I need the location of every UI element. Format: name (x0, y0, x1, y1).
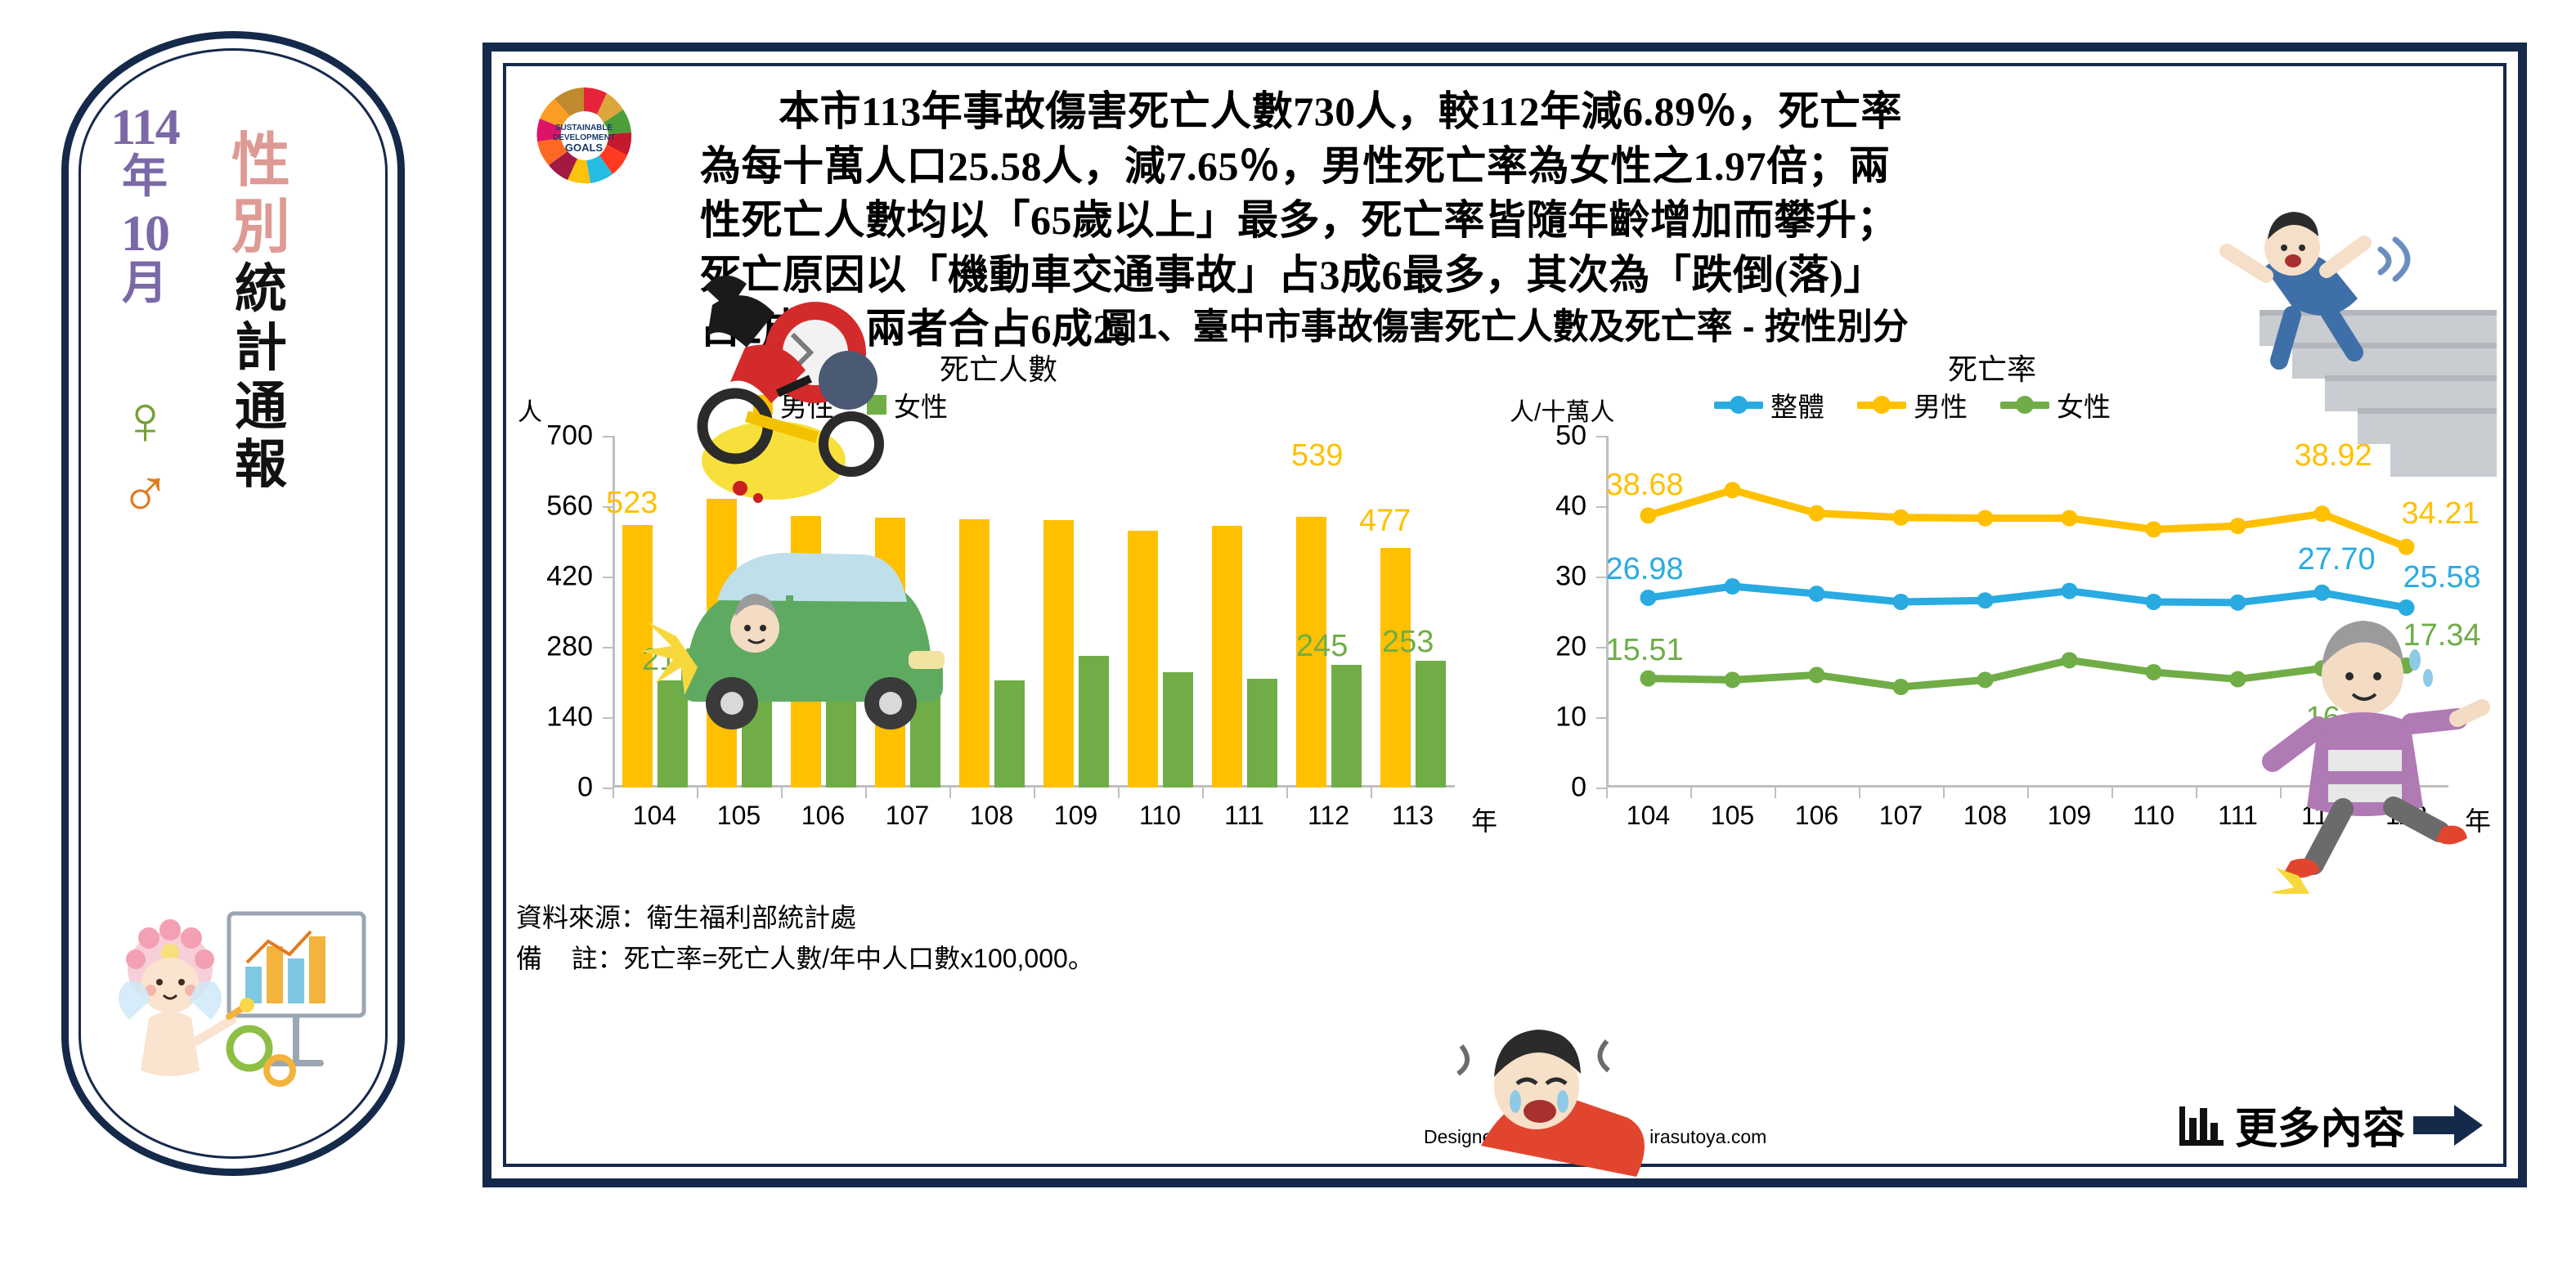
y-tick-mark (603, 788, 613, 789)
line-data-point (2230, 518, 2246, 534)
line-data-point (2314, 585, 2331, 601)
x-tick-label: 108 (970, 801, 1013, 831)
x-tick-mark (2027, 788, 2029, 798)
y-tick-label: 700 (546, 420, 593, 452)
x-axis-unit-label: 年 (1471, 801, 1497, 838)
more-content-label: 更多內容 (2235, 1094, 2405, 1156)
title-char-tongb: 通 (208, 378, 314, 437)
x-tick-label: 108 (1963, 801, 2007, 831)
line-data-point (1893, 509, 1910, 526)
date-month-number: 10 (100, 209, 190, 259)
bar-group (1293, 436, 1364, 788)
infographic-page: 114 年 10 月 性 別 統 計 通 報 ♀ ♂ (0, 0, 2576, 1288)
legend-label-male-rate: 男性 (1914, 385, 1968, 424)
bar-group (1377, 436, 1448, 788)
bar-group (1124, 436, 1196, 788)
summary-line-2: 為每十萬人口25.58人，減7.65％，男性死亡率為女性之1.97倍；兩 (700, 139, 2483, 194)
bar-chart-y-axis: 0140280420560700 (521, 436, 603, 788)
y-tick-label: 0 (577, 772, 593, 804)
y-tick-mark (1596, 788, 1606, 789)
x-tick-mark (1034, 788, 1035, 798)
x-tick-mark (2196, 788, 2197, 798)
bar-group (956, 436, 1027, 788)
legend-item-male-rate: 男性 (1857, 385, 1968, 424)
x-tick-label: 104 (1627, 801, 1670, 831)
y-tick-label: 280 (546, 631, 593, 663)
x-tick-mark (1118, 788, 1120, 798)
line-data-point (2146, 594, 2162, 610)
line-data-point (1640, 671, 1657, 687)
x-tick-mark (865, 788, 867, 798)
bar-data-label: 245 (1296, 629, 1348, 664)
x-tick-label: 110 (1139, 801, 1181, 831)
bar-female (1331, 665, 1362, 788)
bar-group (1209, 436, 1280, 788)
y-tick-mark (603, 436, 613, 438)
line-chart-y-axis: 01020304050 (1515, 436, 1596, 788)
y-tick-label: 50 (1555, 420, 1586, 452)
line-data-label: 27.70 (2298, 542, 2376, 577)
stairs-fall-illustration (2170, 207, 2497, 477)
x-tick-label: 105 (717, 801, 761, 831)
bar-female (994, 680, 1025, 788)
y-tick-label: 560 (546, 491, 593, 523)
y-tick-mark (603, 647, 613, 648)
bar-female (1163, 672, 1193, 788)
x-tick-mark (697, 788, 698, 798)
line-data-point (2062, 652, 2078, 668)
line-data-point (2399, 599, 2415, 616)
x-tick-mark (1606, 788, 1608, 798)
y-tick-mark (603, 577, 613, 578)
gender-symbols: ♀ ♂ (98, 382, 192, 532)
sdg-logo-icon: SUSTAINABLE DEVELOPMENT GOALS (531, 83, 637, 189)
y-tick-label: 10 (1555, 702, 1586, 734)
summary-line-1: 本市113年事故傷害死亡人數730人，較112年減6.89％，死亡率 (700, 84, 2483, 139)
line-data-point (2146, 664, 2162, 680)
bar-female (1247, 679, 1277, 788)
bar-data-label: 253 (1382, 625, 1434, 660)
bar-group (1040, 436, 1111, 788)
line-series-整體 (1649, 586, 2407, 608)
x-tick-label: 109 (2048, 801, 2091, 831)
line-data-point (1809, 666, 1825, 683)
svg-text:SUSTAINABLE: SUSTAINABLE (555, 123, 613, 132)
y-tick-label: 40 (1555, 491, 1586, 523)
legend-label-total: 整體 (1770, 385, 1824, 424)
line-data-label: 15.51 (1606, 633, 1684, 668)
line-data-point (1893, 594, 1910, 610)
main-content-panel: SUSTAINABLE DEVELOPMENT GOALS 本市113年事故傷害… (482, 43, 2527, 1187)
legend-item-female-rate: 女性 (2000, 385, 2111, 424)
title-char-tong: 統 (208, 260, 314, 319)
bar-data-label: 477 (1359, 504, 1411, 539)
x-tick-mark (1690, 788, 1692, 798)
date-year-number: 114 (100, 102, 190, 153)
y-tick-label: 420 (546, 561, 593, 593)
line-data-point (1977, 592, 1994, 608)
line-data-point (1893, 679, 1910, 695)
x-tick-mark (1286, 788, 1288, 798)
elderly-trip-illustration (2240, 616, 2510, 894)
line-data-point (2399, 539, 2415, 555)
y-tick-label: 30 (1555, 561, 1586, 593)
title-char-bao: 報 (208, 436, 314, 495)
svg-text:GOALS: GOALS (565, 141, 604, 154)
x-tick-label: 110 (2133, 801, 2174, 831)
y-tick-mark (603, 717, 613, 719)
note-remark: 備 註：死亡率=死亡人數/年中人口數x100,000。 (516, 939, 1094, 980)
car-accident-illustration (639, 514, 966, 751)
y-tick-mark (1596, 647, 1606, 648)
legend-swatch-female-rate (2000, 402, 2049, 409)
line-data-point (1977, 510, 1994, 527)
x-tick-label: 106 (801, 801, 845, 831)
y-tick-mark (1596, 436, 1606, 438)
line-data-point (1725, 482, 1741, 498)
line-data-label: 26.98 (1606, 552, 1684, 587)
line-data-point (2230, 595, 2246, 611)
x-tick-mark (2112, 788, 2113, 798)
line-data-point (2062, 583, 2078, 599)
bar-chart-icon (2176, 1102, 2227, 1149)
y-tick-label: 140 (546, 702, 593, 734)
note-source: 資料來源：衛生福利部統計處 (516, 898, 1094, 939)
legend-swatch-total (1714, 402, 1763, 409)
figure-notes: 資料來源：衛生福利部統計處 備 註：死亡率=死亡人數/年中人口數x100,000… (516, 898, 1094, 979)
title-char-bie: 別 (208, 195, 314, 261)
line-data-label: 25.58 (2403, 560, 2481, 595)
bar-chart-y-unit: 人 (518, 392, 542, 428)
legend-swatch-male-rate (1857, 402, 1906, 409)
bar-data-label: 539 (1291, 438, 1343, 473)
bar-male (1043, 520, 1074, 788)
x-tick-mark (1202, 788, 1204, 798)
line-data-point (1725, 671, 1741, 688)
y-tick-label: 20 (1555, 631, 1586, 663)
motorcycle-accident-illustration (655, 256, 925, 526)
x-tick-label: 107 (1879, 801, 1923, 831)
x-tick-mark (613, 788, 614, 798)
line-data-point (2146, 521, 2162, 537)
line-series-男性 (1649, 490, 2407, 547)
x-tick-label: 111 (1224, 801, 1264, 831)
left-title-panel: 114 年 10 月 性 別 統 計 通 報 ♀ ♂ (61, 31, 405, 1176)
line-data-point (1640, 590, 1657, 606)
y-tick-mark (1596, 506, 1606, 508)
line-data-point (1640, 507, 1657, 523)
y-tick-mark (1596, 717, 1606, 719)
x-tick-label: 109 (1054, 801, 1097, 831)
x-tick-label: 106 (1795, 801, 1838, 831)
line-data-point (2062, 510, 2078, 527)
line-data-point (2314, 505, 2331, 522)
line-chart-legend: 整體 男性 女性 (1714, 385, 2111, 424)
bar-female (1416, 661, 1446, 788)
fairy-mascot-illustration (106, 881, 376, 1118)
line-data-point (1809, 586, 1825, 602)
line-data-point (1977, 671, 1994, 688)
date-month-char: 月 (100, 261, 190, 307)
line-data-label: 34.21 (2402, 496, 2480, 532)
legend-label-female-rate: 女性 (2057, 385, 2111, 424)
bar-male (1212, 526, 1242, 788)
x-tick-mark (1775, 788, 1776, 798)
more-content-button[interactable]: 更多內容 (2176, 1094, 2484, 1156)
bar-male (1380, 548, 1411, 788)
female-symbol-icon: ♀ (98, 385, 192, 456)
x-tick-mark (1859, 788, 1860, 798)
bulletin-title-vertical: 性 別 統 計 通 報 (208, 128, 314, 495)
x-tick-label: 104 (633, 801, 676, 831)
y-tick-label: 0 (1571, 772, 1586, 804)
male-symbol-icon: ♂ (98, 459, 192, 529)
x-tick-label: 107 (886, 801, 929, 831)
x-tick-mark (781, 788, 783, 798)
publication-date: 114 年 10 月 (100, 102, 190, 315)
title-char-ji: 計 (208, 319, 314, 378)
line-data-point (1725, 578, 1741, 595)
x-tick-mark (1943, 788, 1945, 798)
line-data-point (1809, 505, 1825, 522)
x-tick-mark (1371, 788, 1372, 798)
legend-item-total: 整體 (1714, 385, 1824, 424)
bar-male (1128, 531, 1158, 788)
y-tick-mark (1596, 577, 1606, 578)
crying-child-illustration (1432, 1023, 1677, 1178)
x-tick-label: 105 (1711, 801, 1754, 831)
bar-female (1079, 656, 1109, 788)
x-tick-mark (949, 788, 951, 798)
date-year-char: 年 (100, 155, 190, 200)
arrow-right-icon (2413, 1102, 2484, 1149)
line-data-label: 38.68 (1606, 468, 1684, 503)
title-char-xing: 性 (208, 128, 314, 195)
x-tick-label: 113 (1392, 801, 1434, 831)
x-tick-label: 112 (1308, 801, 1349, 831)
